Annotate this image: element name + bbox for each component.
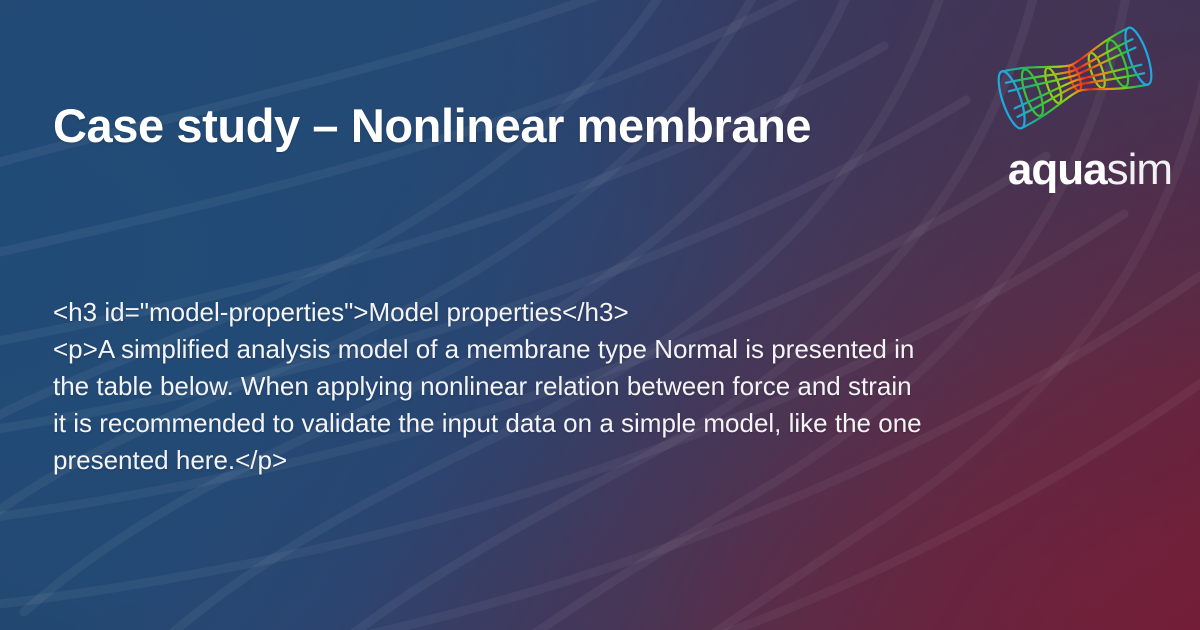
page-title: Case study – Nonlinear membrane xyxy=(53,98,811,154)
banner-content: Case study – Nonlinear membrane <h3 id="… xyxy=(0,0,1200,630)
body-line: <p>A simplified analysis model of a memb… xyxy=(53,331,1168,368)
wordmark-sim: sim xyxy=(1107,145,1172,194)
aquasim-wordmark: aquasim xyxy=(976,144,1172,196)
aquasim-logo: aquasim xyxy=(976,12,1172,194)
net-cage-hourglass-icon xyxy=(982,12,1168,144)
case-study-banner: Case study – Nonlinear membrane <h3 id="… xyxy=(0,0,1200,630)
body-line: presented here.</p> xyxy=(53,442,1168,479)
body-line: it is recommended to validate the input … xyxy=(53,405,1168,442)
body-line: the table below. When applying nonlinear… xyxy=(53,368,1168,405)
body-text-block: <h3 id="model-properties">Model properti… xyxy=(53,294,1168,479)
wordmark-aqua: aqua xyxy=(1008,145,1107,194)
body-line: <h3 id="model-properties">Model properti… xyxy=(53,294,1168,331)
